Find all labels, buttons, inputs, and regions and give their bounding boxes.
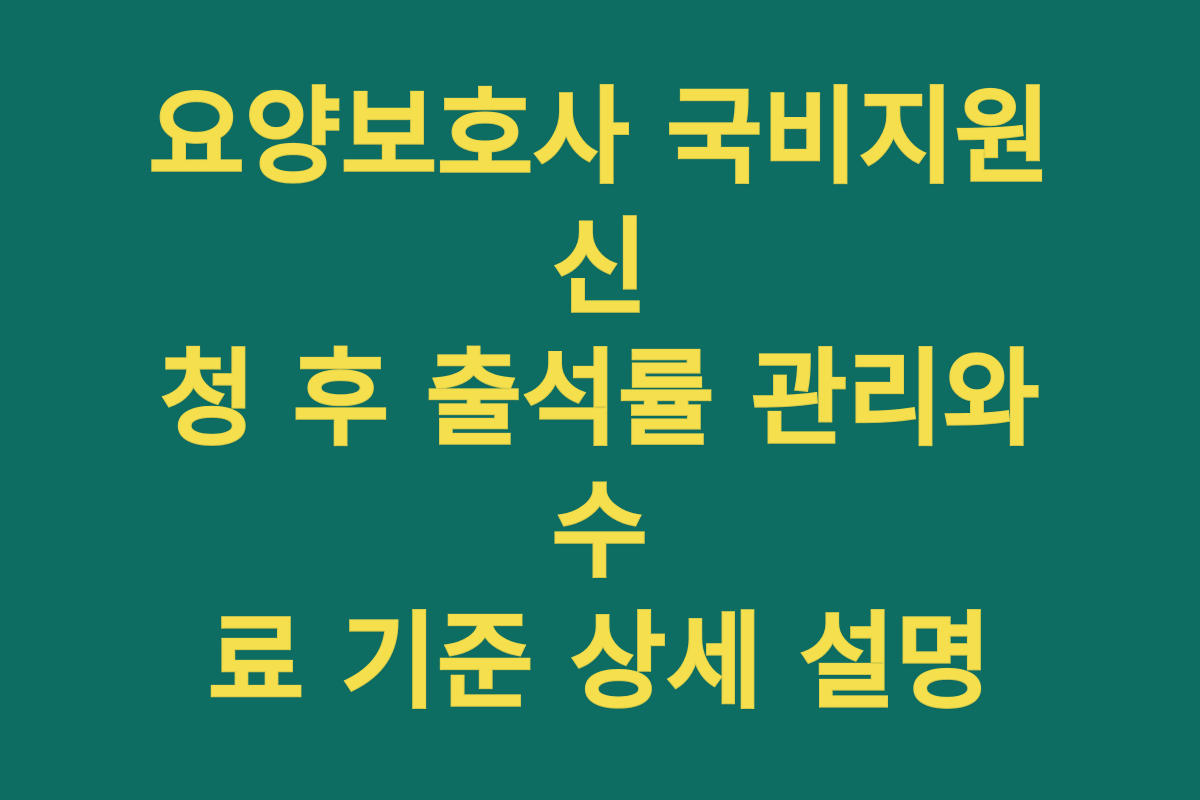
headline-line-1: 요양보호사 국비지원 신 xyxy=(103,72,1097,334)
headline-block: 요양보호사 국비지원 신 청 후 출석률 관리와 수 료 기준 상세 설명 xyxy=(95,72,1105,727)
headline-line-2: 청 후 출석률 관리와 수 xyxy=(103,334,1097,596)
title-card: 요양보호사 국비지원 신 청 후 출석률 관리와 수 료 기준 상세 설명 xyxy=(0,0,1200,800)
headline-line-3: 료 기준 상세 설명 xyxy=(103,597,1097,728)
page-title: 요양보호사 국비지원 신 청 후 출석률 관리와 수 료 기준 상세 설명 xyxy=(103,72,1097,727)
